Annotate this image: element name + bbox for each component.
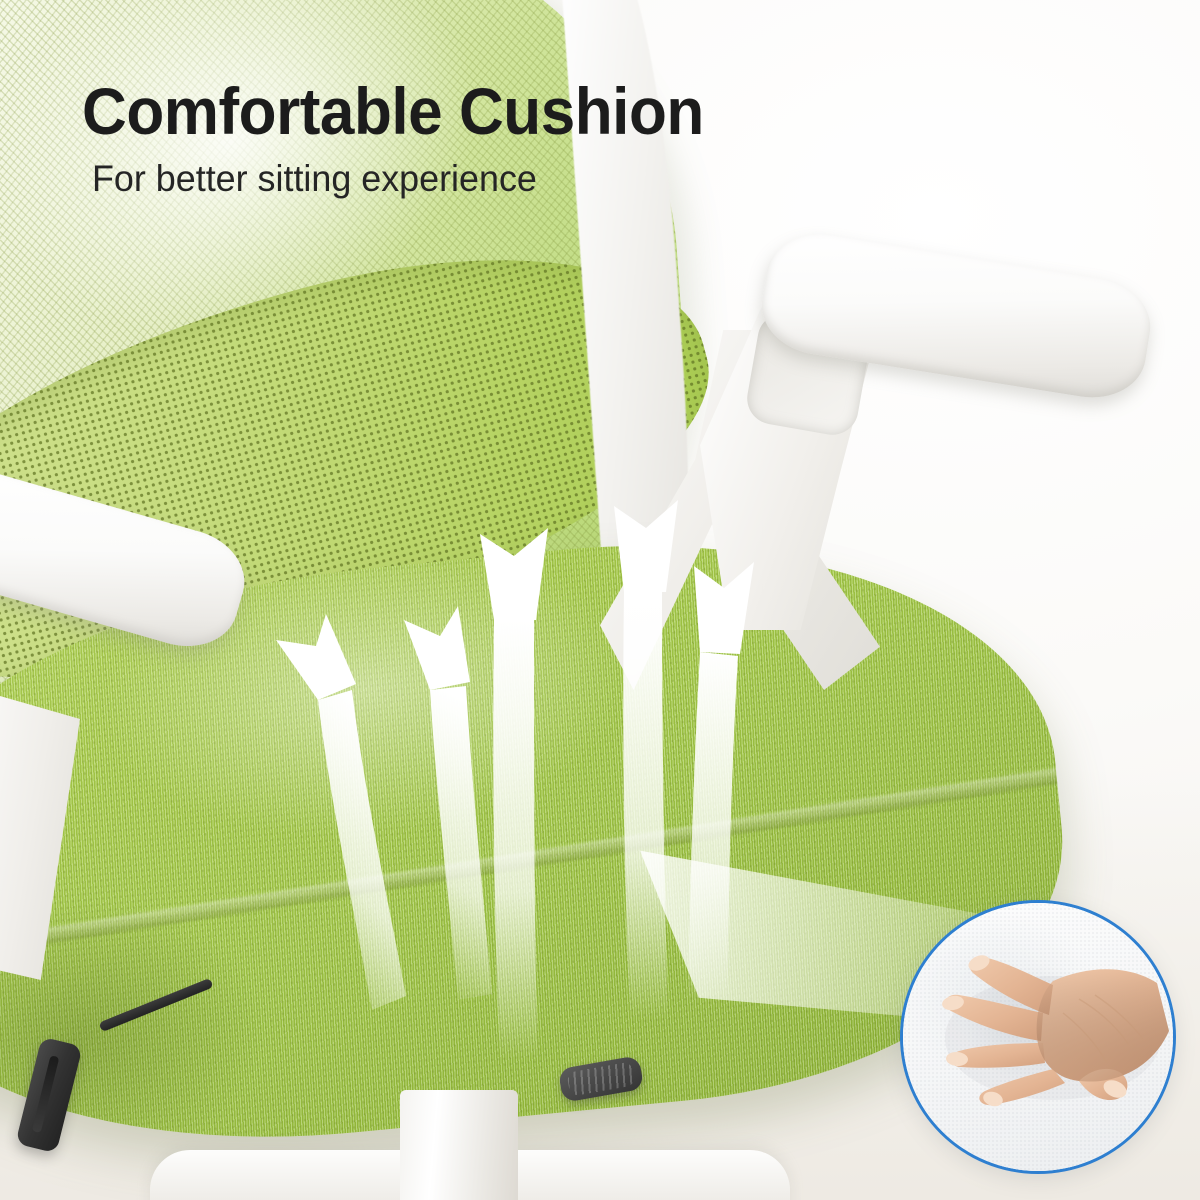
product-marketing-image: Comfortable Cushion For better sitting e… xyxy=(0,0,1200,1200)
gas-cylinder xyxy=(400,1090,518,1200)
page-subtitle: For better sitting experience xyxy=(92,160,537,197)
hand-pressing-foam xyxy=(903,903,1173,1171)
memory-foam-inset-circle xyxy=(900,900,1176,1174)
page-title: Comfortable Cushion xyxy=(82,78,704,144)
